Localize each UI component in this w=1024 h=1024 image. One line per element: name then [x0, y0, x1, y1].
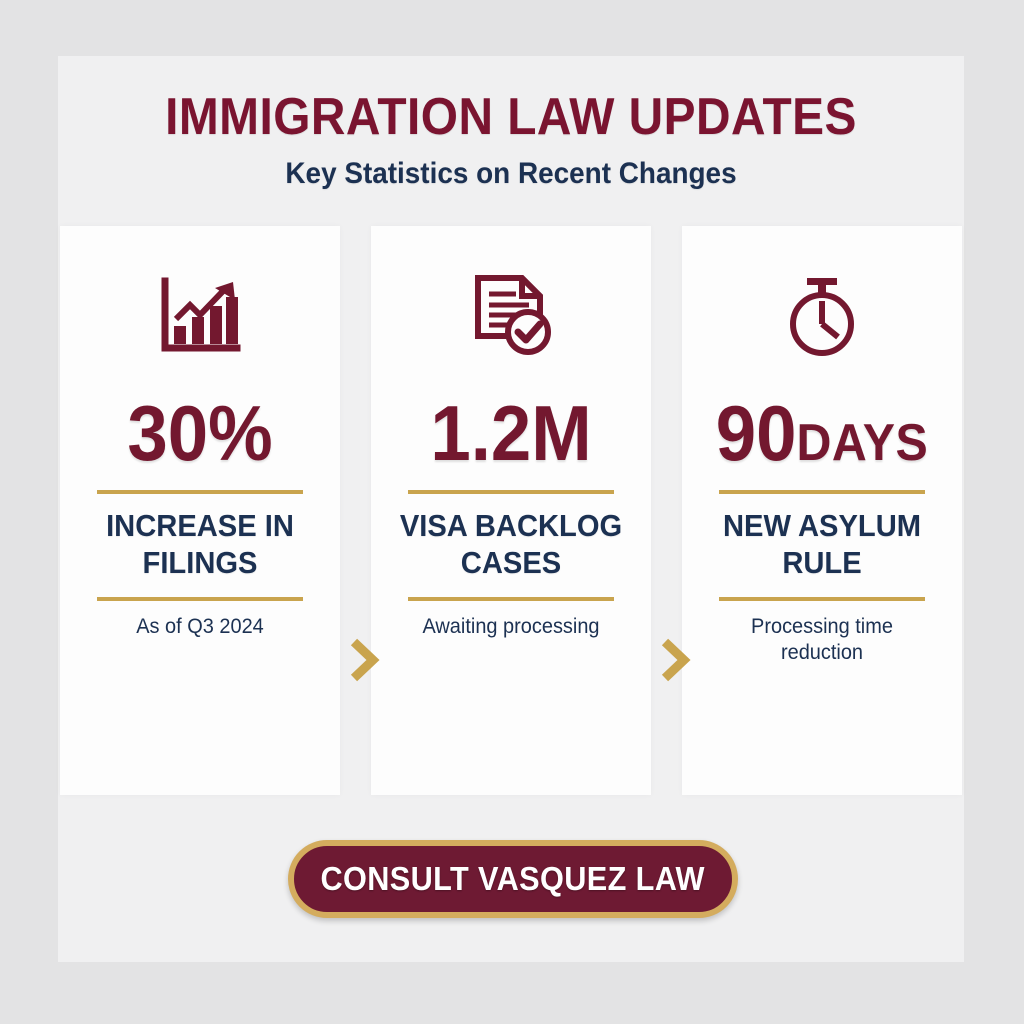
document-check-icon — [371, 256, 651, 376]
divider-top — [408, 490, 614, 494]
stat-note: As of Q3 2024 — [67, 614, 333, 640]
content-panel: IMMIGRATION LAW UPDATES Key Statistics o… — [58, 56, 964, 962]
divider-top — [97, 490, 303, 494]
cta-label: CONSULT VASQUEZ LAW — [321, 860, 705, 898]
stat-card-row: 30% INCREASE IN FILINGS As of Q3 2024 — [58, 226, 964, 795]
stat-value: 30% — [70, 394, 330, 472]
stat-label: VISA BACKLOG CASES — [379, 508, 642, 581]
stat-note: Awaiting processing — [378, 614, 644, 640]
stat-value: 1.2M — [381, 394, 641, 472]
stat-note: Processing time reduction — [689, 614, 955, 665]
stat-label: NEW ASYLUM RULE — [690, 508, 953, 581]
divider-top — [719, 490, 925, 494]
consult-cta-button[interactable]: CONSULT VASQUEZ LAW — [288, 840, 738, 918]
chevron-right-icon — [656, 637, 692, 683]
page-subtitle: Key Statistics on Recent Changes — [90, 157, 933, 191]
page-title: IMMIGRATION LAW UPDATES — [94, 90, 928, 145]
stat-number: 30% — [127, 389, 272, 477]
stat-number: 90 — [716, 389, 797, 477]
header: IMMIGRATION LAW UPDATES Key Statistics o… — [58, 90, 964, 191]
stat-number: 1.2M — [430, 389, 591, 477]
divider-bottom — [408, 597, 614, 601]
infographic-root: IMMIGRATION LAW UPDATES Key Statistics o… — [0, 0, 1024, 1024]
stat-value: 90DAYS — [692, 394, 952, 472]
stat-card-visa-backlog: 1.2M VISA BACKLOG CASES Awaiting process… — [371, 226, 651, 795]
stopwatch-icon — [682, 256, 962, 376]
stat-unit: DAYS — [796, 414, 928, 472]
stat-card-increase-in-filings: 30% INCREASE IN FILINGS As of Q3 2024 — [60, 226, 340, 795]
chevron-right-icon — [345, 637, 381, 683]
stat-card-new-asylum-rule: 90DAYS NEW ASYLUM RULE Processing time r… — [682, 226, 962, 795]
stat-label: INCREASE IN FILINGS — [68, 508, 331, 581]
bar-chart-growth-icon — [60, 256, 340, 376]
divider-bottom — [97, 597, 303, 601]
divider-bottom — [719, 597, 925, 601]
